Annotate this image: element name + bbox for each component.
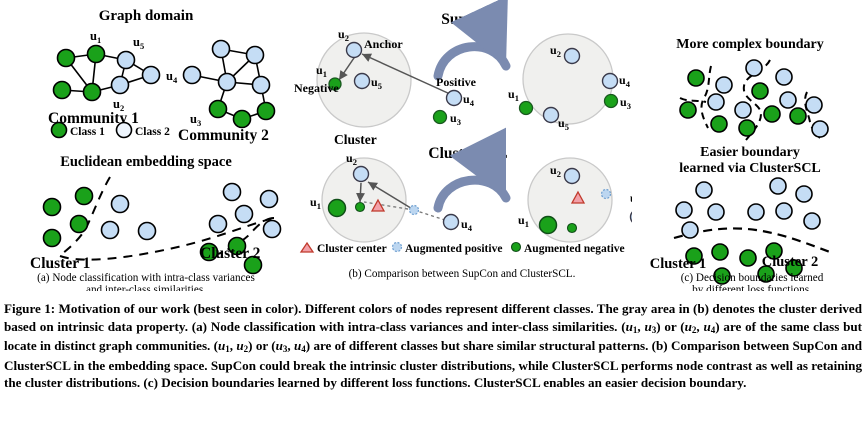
graph-node-u3	[210, 101, 227, 118]
scatter-node	[804, 213, 820, 229]
graph-node	[143, 67, 160, 84]
embedding-node	[224, 184, 241, 201]
scatter-node	[776, 69, 792, 85]
node-u2	[565, 169, 580, 184]
scatter-node	[812, 121, 828, 137]
panel-a-svg: Graph domain	[0, 0, 292, 292]
legend-swatch-class2	[117, 123, 132, 138]
embedding-node	[71, 216, 88, 233]
scatter-node	[688, 70, 704, 86]
embedding-node	[112, 196, 129, 213]
panel-c-subcaption-line1: (c) Decision boundaries learned	[681, 272, 824, 284]
node-u4	[603, 74, 618, 89]
scatter-node	[712, 244, 728, 260]
embedding-node	[236, 206, 253, 223]
embedding-node	[102, 222, 119, 239]
complex-boundary-scatter	[680, 60, 828, 140]
embedding-node	[139, 223, 156, 240]
label-u1: u1	[518, 213, 529, 229]
figure-caption-divider	[0, 291, 865, 292]
embedding-space-title: Euclidean embedding space	[60, 154, 232, 170]
community-2-graph: u4 u3	[166, 41, 275, 129]
scatter-node	[764, 106, 780, 122]
embedding-node	[264, 221, 281, 238]
node-u3	[434, 111, 447, 124]
graph-node-u2	[112, 77, 129, 94]
panel-c-cluster-2-label: Cluster 2	[762, 254, 819, 270]
graph-node-u1	[88, 46, 105, 63]
node-u4	[444, 215, 459, 230]
cluster-region	[523, 34, 613, 124]
panel-c-top-title: More complex boundary	[676, 37, 824, 52]
graph-node	[58, 50, 75, 67]
panel-c-svg: More complex boundary	[632, 0, 865, 292]
figure-root: Graph domain	[0, 0, 865, 434]
legend-label-augmented-negative: Augmented negative	[524, 243, 625, 255]
scatter-node	[752, 83, 768, 99]
graph-node	[213, 41, 230, 58]
supcon-transition-arrow	[438, 47, 506, 76]
graph-node	[54, 82, 71, 99]
panel-c-bottom-title-line2: learned via ClusterSCL	[679, 161, 821, 176]
panel-b-legend: Cluster center Augmented positive Augmen…	[301, 243, 625, 256]
panel-c-bottom-title-line1: Easier boundary	[700, 145, 800, 160]
node-label-u1: u1	[90, 29, 101, 45]
node-u5	[355, 74, 370, 89]
scatter-node	[770, 178, 786, 194]
figure-caption: Figure 1: Motivation of our work (best s…	[4, 300, 862, 392]
panel-b-svg: SupCon u2 Anchor u5 u1 Negative Positive	[292, 0, 632, 292]
panel-a-subcaption-line1: (a) Node classification with intra-class…	[37, 272, 255, 284]
node-label-u3: u3	[190, 112, 201, 128]
legend-marker-cluster-center	[301, 243, 313, 252]
graph-node	[247, 47, 264, 64]
panel-a-title: Graph domain	[99, 8, 194, 24]
augmented-positive-marker	[410, 206, 419, 215]
label-u3: u3	[450, 111, 461, 127]
scatter-node	[680, 102, 696, 118]
graph-node	[258, 103, 275, 120]
legend-label-class2: Class 2	[135, 126, 170, 138]
node-label-u5: u5	[133, 35, 144, 51]
scatter-node	[708, 94, 724, 110]
node-u2	[565, 49, 580, 64]
scatter-node	[780, 92, 796, 108]
community-1-graph: u1 u5 u2	[54, 29, 160, 113]
node-u1	[329, 200, 346, 217]
panel-c-cluster-1-label: Cluster 1	[650, 256, 707, 272]
node-u1	[540, 217, 557, 234]
panel-c: More complex boundary	[632, 0, 865, 292]
graph-node-u5	[118, 52, 135, 69]
scatter-node	[748, 204, 764, 220]
graph-node	[219, 74, 236, 91]
graph-node	[84, 84, 101, 101]
supcon-title: SupCon	[441, 11, 495, 28]
augmented-positive-marker	[602, 190, 611, 199]
legend-label-cluster-center: Cluster center	[317, 243, 387, 255]
scatter-node	[711, 116, 727, 132]
label-u4: u4	[463, 92, 475, 108]
panel-a: Graph domain	[0, 0, 292, 292]
label-u1: u1	[310, 195, 321, 211]
augmented-negative-marker	[356, 203, 365, 212]
scatter-node	[708, 204, 724, 220]
embedding-node	[44, 199, 61, 216]
graph-node	[253, 77, 270, 94]
label-u3: u3	[620, 95, 631, 111]
scatter-node	[796, 186, 812, 202]
embedding-cluster-1-label: Cluster 1	[30, 255, 90, 272]
legend-marker-augmented-negative	[512, 243, 521, 252]
contrast-arrow-anchor-to-augneg	[360, 183, 361, 202]
embedding-node	[210, 216, 227, 233]
scatter-node	[676, 202, 692, 218]
scatter-node	[696, 182, 712, 198]
node-u4	[447, 91, 462, 106]
clusterscl-transition-arrow	[438, 180, 506, 208]
node-u1	[520, 102, 533, 115]
scatter-node	[740, 250, 756, 266]
scatter-node	[682, 222, 698, 238]
embedding-cluster-2-label: Cluster 2	[200, 245, 261, 262]
panel-b: SupCon u2 Anchor u5 u1 Negative Positive	[292, 0, 632, 292]
node-u2	[354, 167, 369, 182]
node-u3	[605, 95, 618, 108]
scatter-node	[806, 97, 822, 113]
community-2-label: Community 2	[178, 127, 269, 144]
label-cluster: Cluster	[334, 132, 377, 147]
scatter-node	[735, 102, 751, 118]
label-anchor: Anchor	[364, 37, 403, 51]
label-positive: Positive	[436, 75, 477, 89]
scatter-node	[739, 120, 755, 136]
panel-b-subcaption: (b) Comparison between SupCon and Cluste…	[349, 268, 576, 280]
label-u2: u2	[338, 27, 349, 43]
embedding-node	[44, 230, 61, 247]
legend-marker-augmented-positive	[393, 243, 402, 252]
scatter-node	[716, 77, 732, 93]
embedding-node	[76, 188, 93, 205]
node-label-u4: u4	[166, 69, 178, 85]
supcon-before-cluster: u2 Anchor u5 u1 Negative Positive u4 u3 …	[294, 27, 477, 147]
scatter-node	[746, 60, 762, 76]
node-u2	[347, 43, 362, 58]
clusterscl-title: ClusterSCL	[428, 145, 507, 162]
legend-swatch-class1	[52, 123, 67, 138]
community-1-edges	[62, 54, 151, 92]
label-negative: Negative	[294, 81, 339, 95]
graph-node	[234, 111, 251, 128]
clusterscl-after-cluster: u2 u1 u4	[518, 158, 632, 242]
legend-label-augmented-positive: Augmented positive	[405, 243, 502, 255]
label-u4: u4	[461, 217, 473, 233]
community-1-nodes	[54, 46, 160, 101]
label-u1: u1	[508, 87, 519, 103]
legend-label-class1: Class 1	[70, 126, 105, 138]
scatter-node	[776, 203, 792, 219]
scatter-node	[790, 108, 806, 124]
label-u4: u4	[619, 73, 631, 89]
node-u5	[544, 108, 559, 123]
supcon-after-cluster: u2 u4 u3 u1 u5	[508, 34, 631, 132]
augmented-negative-marker	[568, 224, 577, 233]
label-u2: u2	[346, 151, 357, 167]
graph-node-u4	[184, 67, 201, 84]
clusterscl-before-cluster: u2 u1 u4	[310, 151, 473, 242]
embedding-node	[261, 191, 278, 208]
